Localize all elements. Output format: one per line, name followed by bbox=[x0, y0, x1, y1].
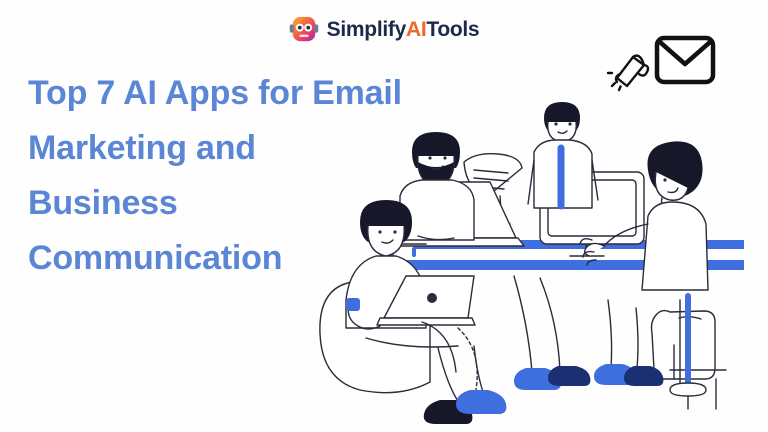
standing-person-figure bbox=[528, 102, 598, 208]
brand-name-accent: AI bbox=[406, 18, 426, 41]
envelope-icon bbox=[653, 32, 717, 88]
illustration-canvas bbox=[318, 100, 768, 432]
page-canvas: SimplifyAITools Top 7 AI Apps for Email … bbox=[0, 0, 768, 432]
robot-head-icon bbox=[289, 14, 319, 44]
office-team-working-illustration bbox=[318, 100, 768, 432]
megaphone-icon bbox=[603, 44, 655, 96]
brand-name: SimplifyAITools bbox=[327, 19, 480, 40]
brand-name-part1: Simplify bbox=[327, 18, 406, 41]
brand-name-part2: Tools bbox=[426, 18, 479, 41]
